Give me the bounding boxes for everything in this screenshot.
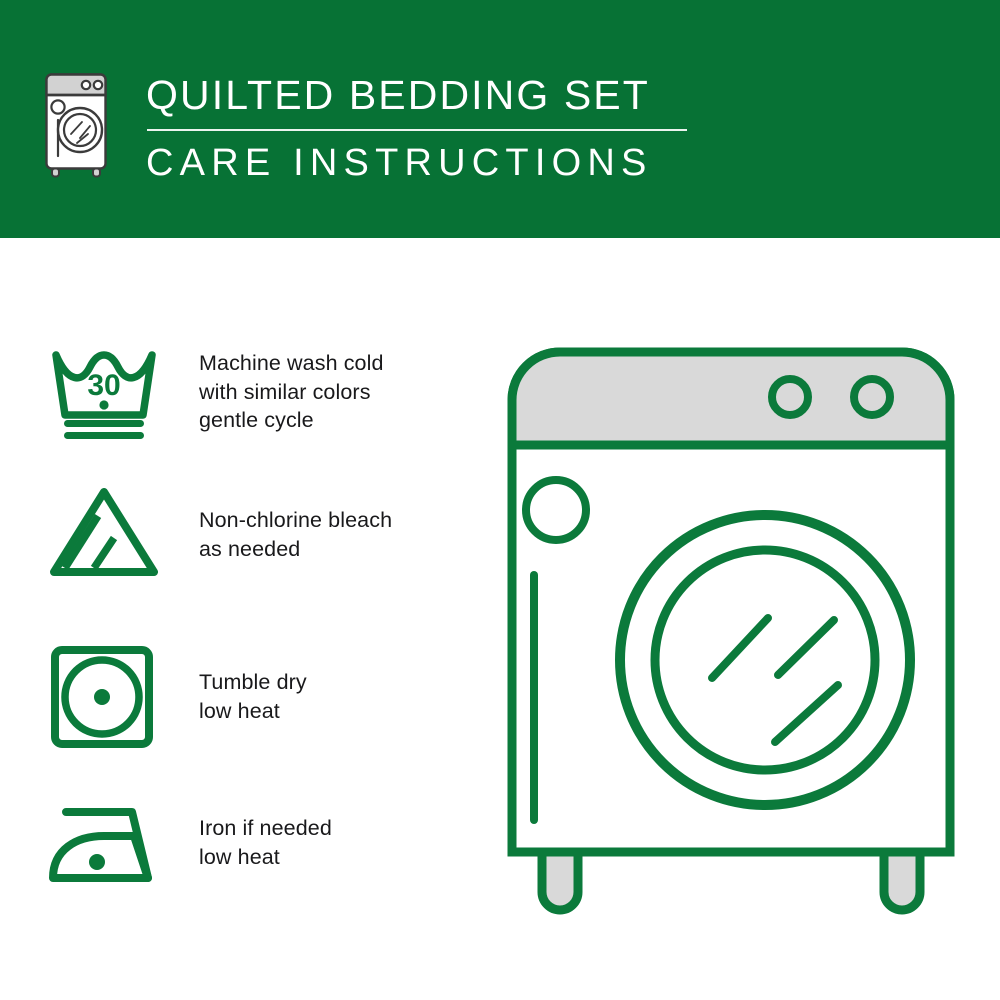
care-item-tumble-dry: Tumble dry low heat	[48, 644, 307, 749]
control-knob-2	[854, 379, 890, 415]
care-item-label: Machine wash cold with similar colors ge…	[199, 339, 384, 435]
tumble-dry-low-heat-icon	[48, 644, 168, 749]
machine-leg-left	[542, 852, 578, 910]
care-item-label: Non-chlorine bleach as needed	[199, 480, 392, 563]
care-item-label: Iron if needed low heat	[199, 792, 332, 871]
control-knob-1	[772, 379, 808, 415]
care-item-bleach: Non-chlorine bleach as needed	[48, 480, 392, 585]
care-item-label: Tumble dry low heat	[199, 644, 307, 725]
care-item-iron: Iron if needed low heat	[48, 792, 332, 897]
front-load-washing-machine-illustration	[490, 330, 970, 940]
page-header: QUILTED BEDDING SET CARE INSTRUCTIONS	[0, 0, 1000, 238]
svg-text:30: 30	[87, 369, 120, 402]
care-item-machine-wash: 30 Machine wash cold with similar colors…	[48, 339, 384, 444]
header-title-group: QUILTED BEDDING SET CARE INSTRUCTIONS	[146, 70, 706, 186]
non-chlorine-bleach-triangle-icon	[48, 480, 168, 585]
iron-low-heat-icon	[48, 792, 168, 897]
page-title: QUILTED BEDDING SET	[146, 70, 706, 120]
page-subtitle: CARE INSTRUCTIONS	[146, 140, 706, 186]
wash-tub-30-icon: 30	[48, 339, 168, 444]
care-instructions-list: 30 Machine wash cold with similar colors…	[0, 238, 500, 1000]
machine-leg-right	[884, 852, 920, 910]
washing-machine-logo-icon	[44, 72, 108, 178]
title-divider	[147, 129, 687, 131]
